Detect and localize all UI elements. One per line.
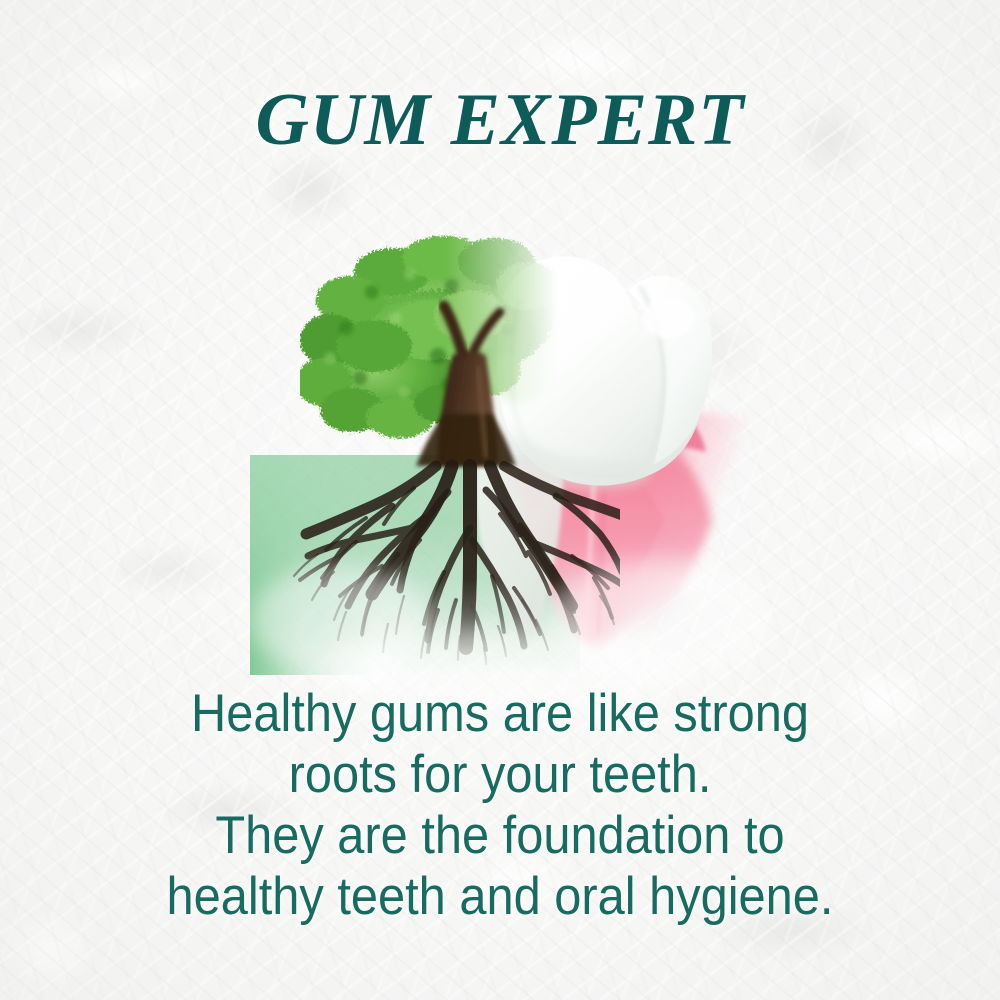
page-title: GUM EXPERT <box>0 78 1000 163</box>
tagline-line-2: roots for your teeth. <box>40 744 960 805</box>
tagline-line-4: healthy teeth and oral hygiene. <box>40 866 960 927</box>
tagline-line-1: Healthy gums are like strong <box>40 683 960 744</box>
poster-canvas: GUM EXPERT <box>0 0 1000 1000</box>
tagline-block: Healthy gums are like strong roots for y… <box>0 683 1000 927</box>
tagline-line-3: They are the foundation to <box>40 805 960 866</box>
